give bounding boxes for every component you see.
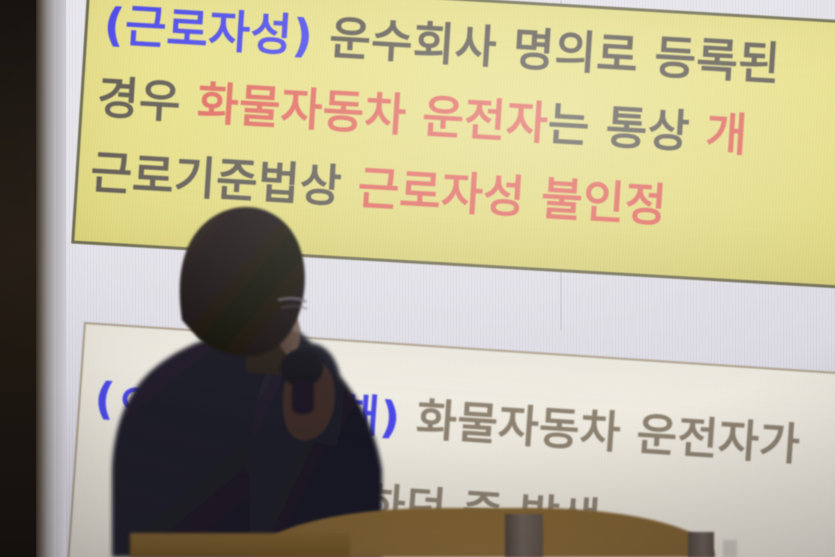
slide-line-3-seg-1: 근로기준법상 [89, 146, 359, 215]
slide-line-4-seg-1: (ㅇ [93, 373, 158, 428]
slide-line-2-seg-2: 화물자동차 운전자 [196, 77, 550, 150]
slide-line-2: 경우 화물자동차 운전자는 통상 개 [96, 75, 749, 158]
slide-callout-box-1: (근로자성) 운수회사 명의로 등록된 경우 화물자동차 운전자는 통상 개 근… [71, 0, 835, 290]
left-wall-dark [0, 0, 36, 557]
wall-edge-trim [36, 0, 56, 557]
slide-line-2-seg-4: 개 [704, 106, 749, 161]
slide-line-3-seg-2: 근로자성 불인정 [356, 161, 668, 232]
slide-line-2-seg-3: 는 통상 [546, 97, 707, 159]
slide-line-1-seg-2: 운수회사 명의로 등록된 [312, 10, 782, 90]
slide-line-4: (ㅇ 재해) 화물자동차 운전자가 [93, 377, 802, 468]
podium-post [505, 514, 543, 557]
slide-line-4-seg-3: 화물자동차 운전자가 [399, 393, 802, 470]
slide-line-1-seg-1: (근로자성) [102, 0, 315, 63]
slide-line-2-seg-1: 경우 [96, 71, 199, 130]
screenshot-root: (근로자성) 운수회사 명의로 등록된 경우 화물자동차 운전자는 통상 개 근… [0, 0, 835, 557]
podium-edge-sliver [723, 540, 737, 557]
slide-line-3: 근로기준법상 근로자성 불인정 [89, 150, 668, 229]
podium-post-right [688, 532, 714, 557]
slide-line-1: (근로자성) 운수회사 명의로 등록된 [103, 2, 782, 86]
slide-line-4-seg-2: 재해) [296, 386, 402, 444]
podium-left-panel [130, 533, 350, 557]
